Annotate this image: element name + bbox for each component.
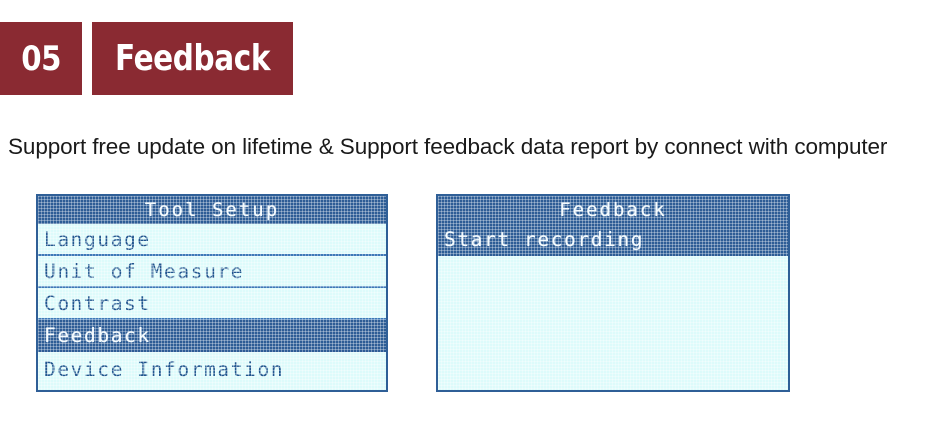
section-title-block: Feedback	[92, 22, 293, 95]
section-description: Support free update on lifetime & Suppor…	[8, 133, 888, 160]
menu-item-language[interactable]: Language	[38, 224, 386, 256]
feedback-menu-list: Start recording	[438, 224, 788, 256]
menu-item-label: Device Information	[44, 358, 284, 381]
menu-item-start-recording[interactable]: Start recording	[438, 224, 788, 256]
menu-item-device-information[interactable]: Device Information	[38, 352, 386, 386]
menu-item-label: Unit of Measure	[44, 260, 244, 283]
section-number: 05	[21, 42, 61, 76]
menu-item-contrast[interactable]: Contrast	[38, 288, 386, 320]
menu-item-label: Contrast	[44, 292, 151, 315]
menu-item-label: Start recording	[444, 228, 644, 251]
tool-setup-screen-title: Tool Setup	[38, 196, 386, 224]
tool-setup-menu-list: Language Unit of Measure Contrast Feedba…	[38, 224, 386, 386]
menu-item-label: Language	[44, 228, 151, 251]
tool-setup-screen: Tool Setup Language Unit of Measure Cont…	[36, 194, 388, 392]
menu-item-label: Feedback	[44, 324, 151, 347]
feedback-screen-title: Feedback	[438, 196, 788, 224]
feedback-screen: Feedback Start recording	[436, 194, 790, 392]
page-title: Feedback	[115, 41, 270, 77]
menu-item-feedback[interactable]: Feedback	[38, 320, 386, 352]
menu-item-unit-of-measure[interactable]: Unit of Measure	[38, 256, 386, 288]
section-number-block: 05	[0, 22, 82, 95]
